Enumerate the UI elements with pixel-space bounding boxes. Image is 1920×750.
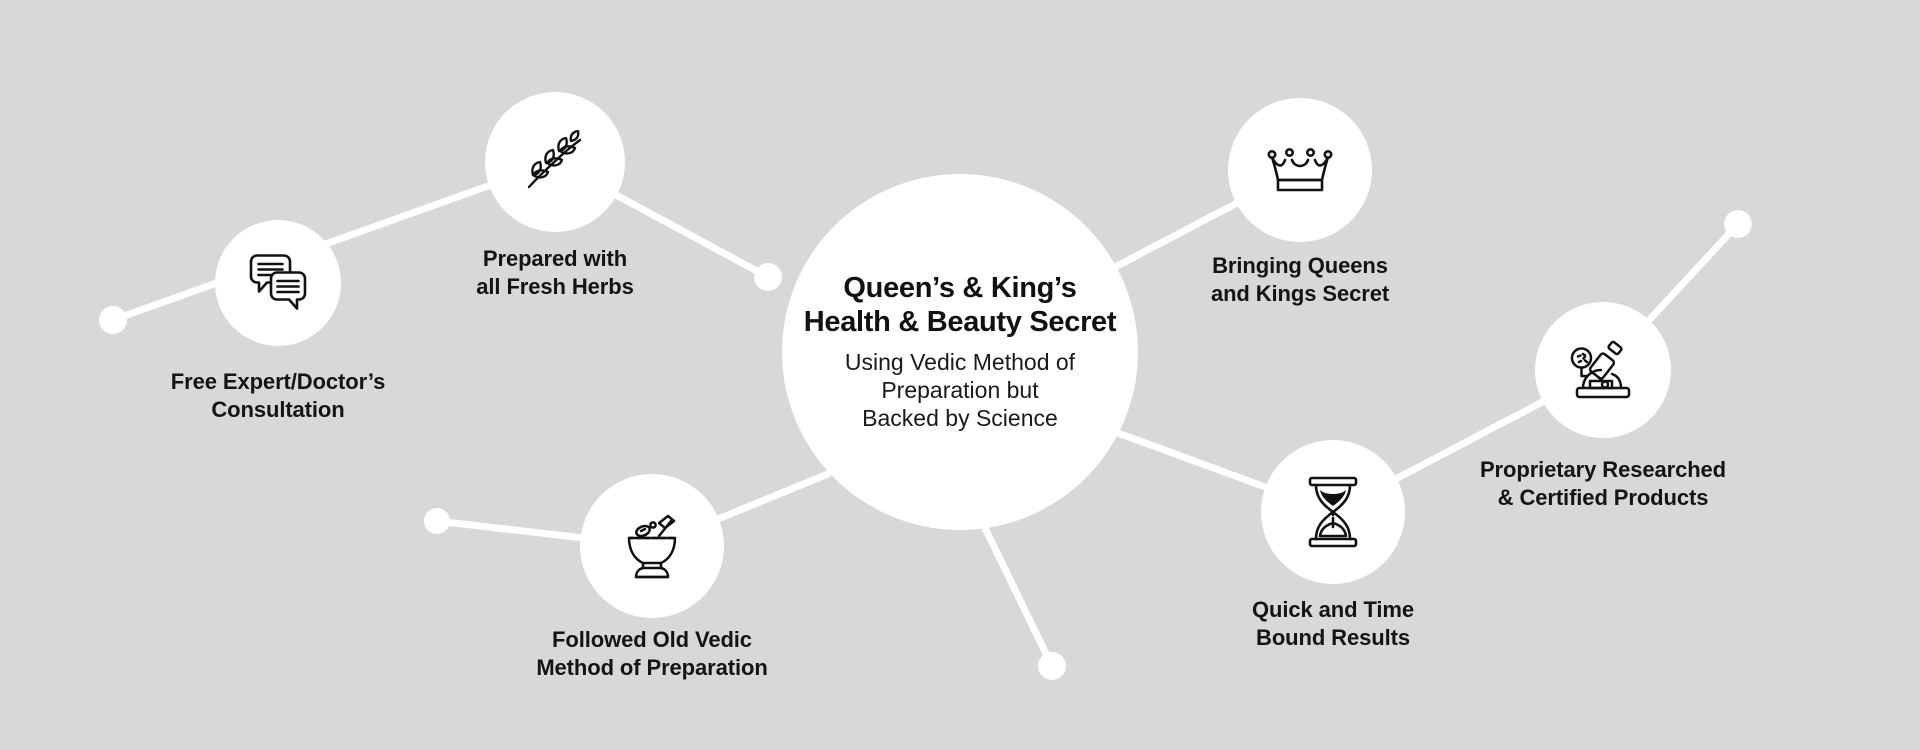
endpoint-top-right (1724, 210, 1752, 238)
mortar-pestle-icon (620, 512, 684, 580)
endpoint-hub-bottom (1038, 652, 1066, 680)
endpoint-left (99, 306, 127, 334)
hub-subtitle: Using Vedic Method of Preparation but Ba… (845, 348, 1075, 432)
chat-bubbles-icon (245, 253, 311, 313)
node-quick-results[interactable] (1261, 440, 1405, 584)
node-queens-kings-secret[interactable] (1228, 98, 1372, 242)
node-label-free-consultation: Free Expert/Doctor’s Consultation (68, 368, 488, 423)
node-label-quick-results: Quick and Time Bound Results (1123, 596, 1543, 651)
node-free-consultation[interactable] (215, 220, 341, 346)
node-label-queens-kings-secret: Bringing Queens and Kings Secret (1090, 252, 1510, 307)
microscope-icon (1568, 338, 1638, 402)
node-label-fresh-herbs: Prepared with all Fresh Herbs (345, 245, 765, 300)
link-hub-to-bottom-endpoint (985, 528, 1052, 666)
hourglass-icon (1306, 476, 1360, 548)
infographic-canvas: Queen’s & King’s Health & Beauty SecretU… (0, 0, 1920, 750)
herb-branch-icon (521, 130, 589, 194)
crown-icon (1265, 144, 1335, 196)
hub-title: Queen’s & King’s Health & Beauty Secret (804, 272, 1117, 339)
node-old-vedic-method[interactable] (580, 474, 724, 618)
node-fresh-herbs[interactable] (485, 92, 625, 232)
node-label-old-vedic-method: Followed Old Vedic Method of Preparation (442, 626, 862, 681)
endpoint-lower-left (424, 508, 450, 534)
node-proprietary-research[interactable] (1535, 302, 1671, 438)
node-label-proprietary-research: Proprietary Researched & Certified Produ… (1393, 456, 1813, 511)
hub-node-queens-and-kings-secret[interactable]: Queen’s & King’s Health & Beauty SecretU… (782, 174, 1138, 530)
